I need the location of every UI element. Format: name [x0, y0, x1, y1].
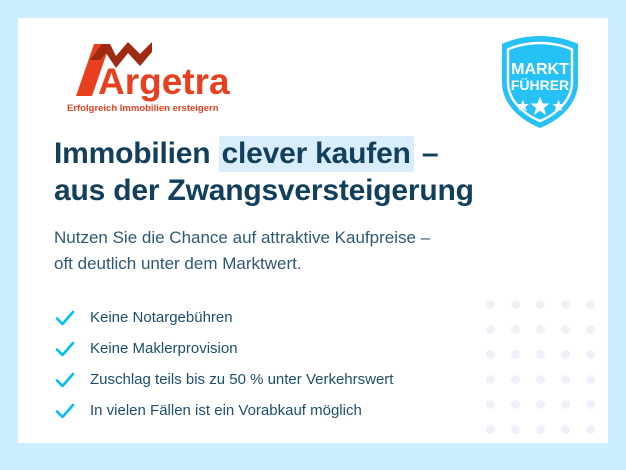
decorative-dot — [561, 325, 570, 334]
check-icon — [54, 338, 76, 360]
subtitle-line1: Nutzen Sie die Chance auf attraktive Kau… — [54, 225, 574, 251]
benefit-label: Zuschlag teils bis zu 50 % unter Verkehr… — [90, 371, 393, 388]
decorative-dot — [536, 325, 545, 334]
decorative-dot — [561, 300, 570, 309]
content-card: Argetra Erfolgreich Immobilien ersteiger… — [18, 18, 608, 443]
decorative-dot — [561, 350, 570, 359]
page-frame: Argetra Erfolgreich Immobilien ersteiger… — [0, 0, 626, 470]
benefit-label: In vielen Fällen ist ein Vorabkauf mögli… — [90, 402, 362, 419]
logo-tagline: Erfolgreich Immobilien ersteigern — [67, 103, 219, 114]
headline-text-before: Immobilien — [54, 137, 219, 170]
decorative-dot — [536, 425, 545, 434]
decorative-dot — [586, 425, 595, 434]
decorative-dot — [586, 350, 595, 359]
decorative-dot — [561, 425, 570, 434]
badge-line2: FÜHRER — [511, 77, 569, 93]
benefit-item: Keine Maklerprovision — [54, 333, 534, 364]
badge-line1: MARKT — [511, 61, 569, 78]
benefit-item: In vielen Fällen ist ein Vorabkauf mögli… — [54, 395, 534, 426]
headline-text-after: – — [414, 137, 439, 170]
shield-icon: MARKT FÜHRER — [488, 30, 592, 134]
decorative-dot — [586, 300, 595, 309]
benefits-list: Keine NotargebührenKeine Maklerprovision… — [54, 302, 534, 426]
markt-fuehrer-badge: MARKT FÜHRER — [488, 30, 592, 134]
decorative-dot — [586, 325, 595, 334]
benefit-item: Zuschlag teils bis zu 50 % unter Verkehr… — [54, 364, 534, 395]
page-subtitle: Nutzen Sie die Chance auf attraktive Kau… — [54, 225, 574, 277]
headline-highlight: clever kaufen — [219, 136, 414, 172]
decorative-dot — [536, 375, 545, 384]
decorative-dot — [586, 400, 595, 409]
benefit-item: Keine Notargebühren — [54, 302, 534, 333]
logo-wordmark: Argetra — [98, 61, 230, 102]
argetra-logo-svg: Argetra Erfolgreich Immobilien ersteiger… — [54, 40, 234, 118]
decorative-dot — [536, 350, 545, 359]
decorative-dot — [561, 400, 570, 409]
benefit-label: Keine Maklerprovision — [90, 340, 238, 357]
check-icon — [54, 400, 76, 422]
check-icon — [54, 369, 76, 391]
subtitle-line2: oft deutlich unter dem Marktwert. — [54, 251, 574, 277]
decorative-dot — [561, 375, 570, 384]
benefit-label: Keine Notargebühren — [90, 309, 233, 326]
decorative-dot — [486, 425, 495, 434]
page-title: Immobilien clever kaufen – aus der Zwang… — [54, 135, 574, 209]
check-icon — [54, 307, 76, 329]
argetra-logo: Argetra Erfolgreich Immobilien ersteiger… — [54, 40, 234, 118]
decorative-dot — [586, 375, 595, 384]
headline-line2: aus der Zwangsversteigerung — [54, 172, 574, 209]
decorative-dot — [536, 400, 545, 409]
decorative-dot — [536, 300, 545, 309]
headline-line1: Immobilien clever kaufen – — [54, 136, 438, 172]
decorative-dot — [511, 425, 520, 434]
